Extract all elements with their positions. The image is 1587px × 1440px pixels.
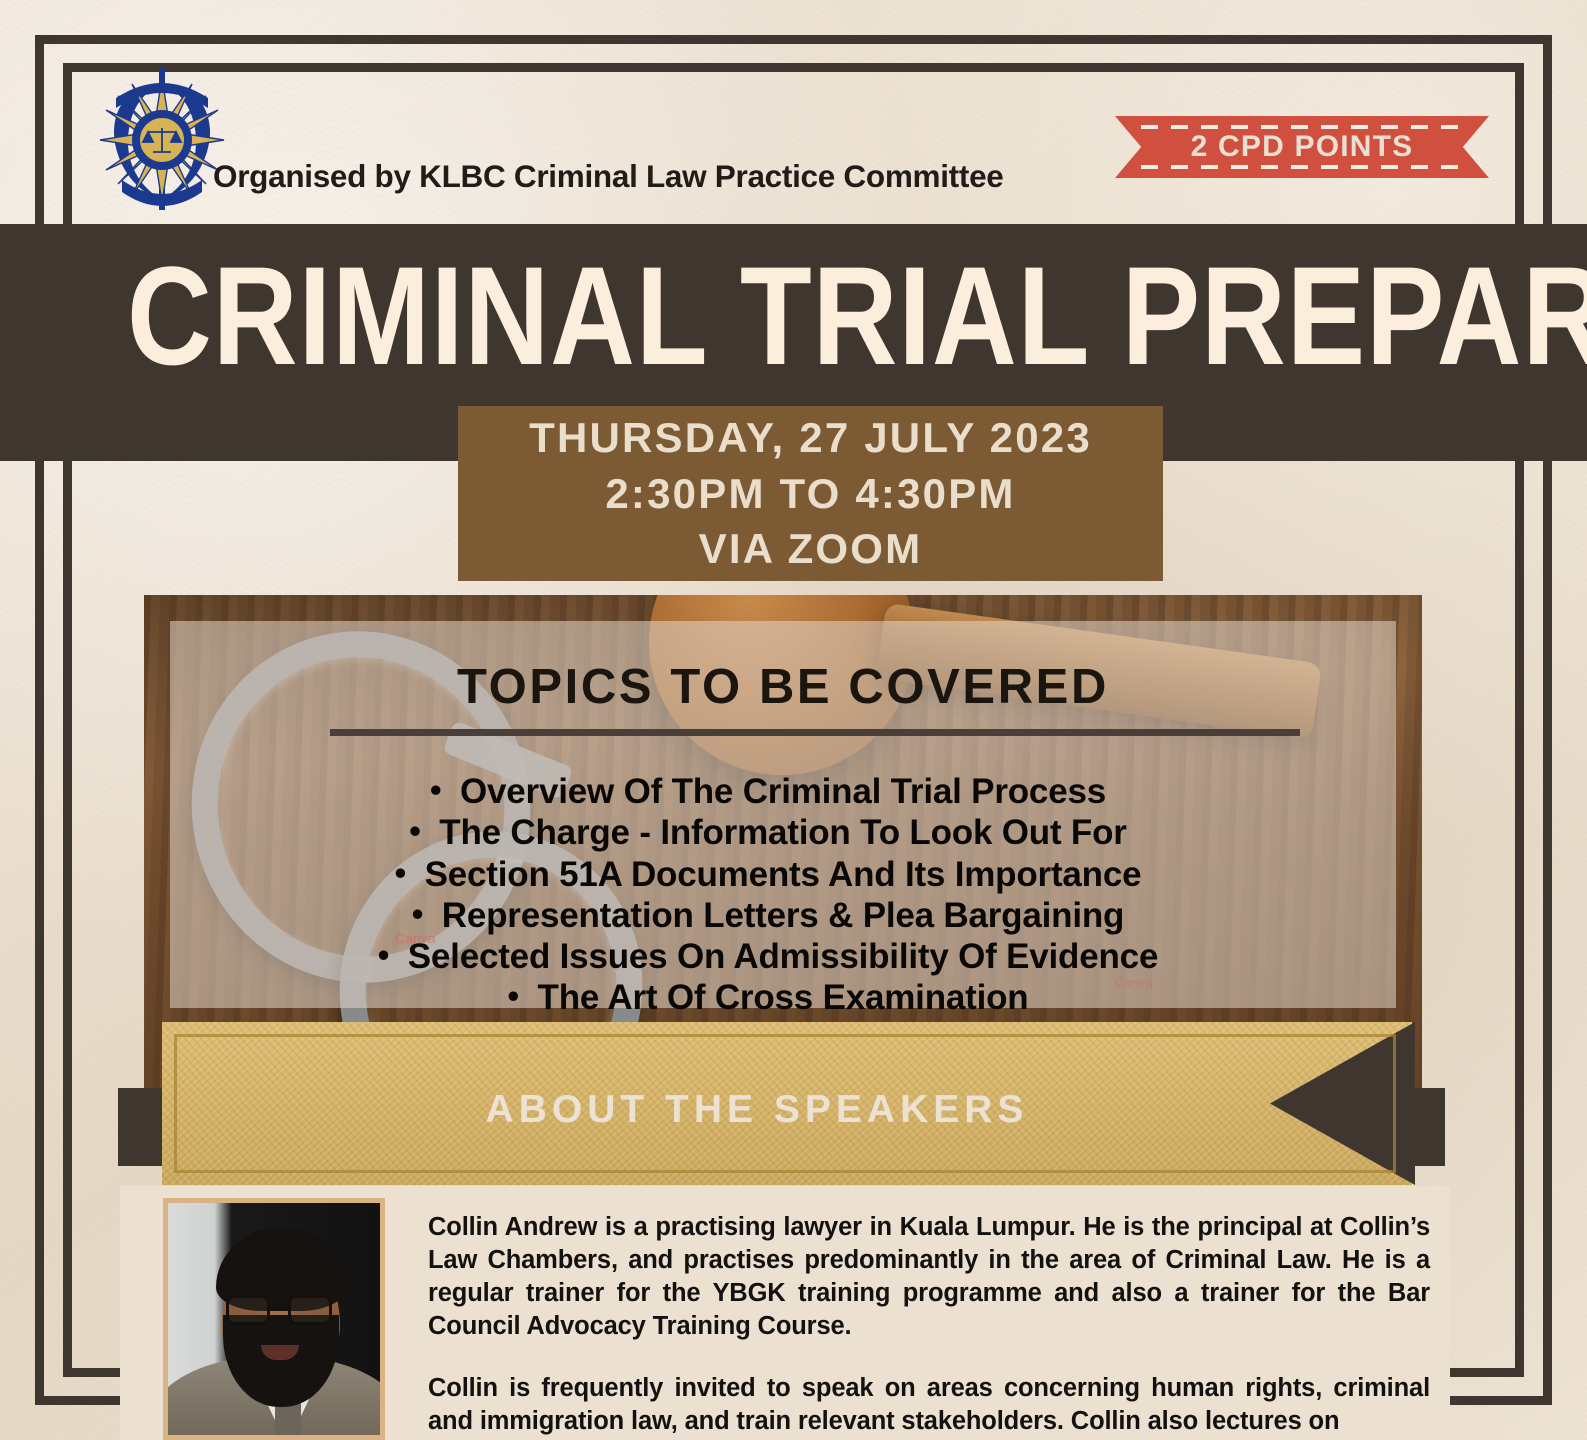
cpd-dash-top [1141, 125, 1463, 129]
list-item: Section 51A Documents And Its Importance [170, 854, 1396, 895]
list-item: The Art Of Cross Examination [170, 977, 1396, 1018]
glasses-bridge [270, 1307, 288, 1310]
cpd-dash-bottom [1141, 165, 1463, 169]
poster-root: Organised by KLBC Criminal Law Practice … [0, 0, 1587, 1440]
avatar [163, 1198, 385, 1440]
topics-list: Overview Of The Criminal Trial Process T… [170, 771, 1396, 1019]
bio-paragraph-1: Collin Andrew is a practising lawyer in … [428, 1211, 1430, 1344]
poster-header: Organised by KLBC Criminal Law Practice … [80, 62, 1507, 224]
topics-overlay-card: TOPICS TO BE COVERED Overview Of The Cri… [170, 621, 1396, 1008]
bar-malaysia-logo-icon [98, 68, 226, 210]
list-item: Overview Of The Criminal Trial Process [170, 771, 1396, 812]
topics-heading: TOPICS TO BE COVERED [170, 659, 1396, 715]
glasses-icon [226, 1295, 336, 1325]
organiser-label: Organised by KLBC Criminal Law Practice … [213, 158, 1004, 195]
glasses-lens-right [288, 1295, 332, 1325]
bio-paragraph-2: Collin is frequently invited to speak on… [428, 1372, 1430, 1438]
speakers-heading: ABOUT THE SPEAKERS [162, 1088, 1352, 1132]
event-time: 2:30PM TO 4:30PM [605, 466, 1015, 521]
event-details-box: THURSDAY, 27 JULY 2023 2:30PM TO 4:30PM … [458, 406, 1163, 581]
list-item: Selected Issues On Admissibility Of Evid… [170, 936, 1396, 977]
glasses-lens-left [226, 1295, 270, 1325]
speaker-bio-text: Collin Andrew is a practising lawyer in … [428, 1211, 1430, 1440]
event-platform: VIA ZOOM [699, 521, 923, 576]
list-item: The Charge - Information To Look Out For [170, 812, 1396, 853]
event-date: THURSDAY, 27 JULY 2023 [529, 410, 1092, 465]
topics-divider [330, 729, 1300, 736]
cpd-points-label: 2 CPD POINTS [1191, 130, 1414, 164]
list-item: Representation Letters & Plea Bargaining [170, 895, 1396, 936]
cpd-points-badge: 2 CPD POINTS [1115, 116, 1489, 178]
topics-panel: TOPICS TO BE COVERED Overview Of The Cri… [144, 595, 1422, 1090]
page-title: CRIMINAL TRIAL PREPARATION [127, 246, 1460, 386]
